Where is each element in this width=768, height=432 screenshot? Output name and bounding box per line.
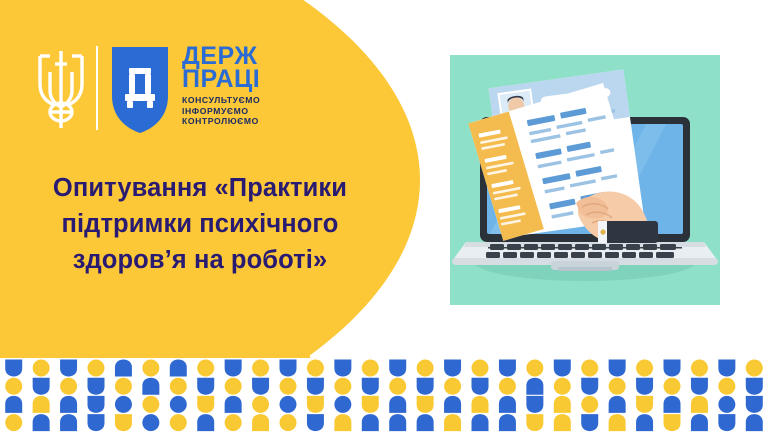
pattern-cell: [362, 378, 379, 395]
pattern-cell: [88, 360, 105, 377]
pattern-cell: [444, 378, 461, 395]
pattern-cell: [554, 396, 571, 413]
pattern-cell: [472, 414, 489, 431]
pattern-cell: [334, 396, 351, 413]
pattern-cell: [307, 360, 324, 377]
pattern-cell: [115, 378, 132, 395]
pattern-cell: [33, 414, 50, 431]
logo-tagline-line-1: КОНСУЛЬТУЄМО: [182, 95, 260, 106]
pattern-cell: [554, 414, 571, 431]
pattern-cell: [225, 396, 242, 413]
pattern-cell: [526, 396, 543, 413]
pattern-cell: [33, 378, 50, 395]
pattern-cell: [197, 396, 214, 413]
poster-canvas: ДЕРЖ ПРАЦІ КОНСУЛЬТУЄМО ІНФОРМУЄМО КОНТР…: [0, 0, 768, 432]
pattern-cell: [746, 360, 763, 377]
pattern-cell: [691, 378, 708, 395]
pattern-cell: [142, 396, 159, 413]
pattern-cell: [170, 378, 187, 395]
pattern-cell: [499, 414, 516, 431]
pattern-cell: [280, 396, 297, 413]
pattern-cell: [664, 414, 681, 431]
pattern-cell: [280, 414, 297, 431]
pattern-cell: [718, 414, 735, 431]
logo-wordmark: ДЕРЖ ПРАЦІ КОНСУЛЬТУЄМО ІНФОРМУЄМО КОНТР…: [182, 44, 260, 127]
pattern-svg: [0, 358, 768, 432]
pattern-cell: [60, 414, 77, 431]
pattern-cell: [88, 396, 105, 413]
pattern-cell: [88, 378, 105, 395]
pattern-cell: [417, 396, 434, 413]
pattern-cell: [307, 378, 324, 395]
pattern-cell: [691, 360, 708, 377]
pattern-cell: [664, 396, 681, 413]
pattern-cell: [472, 360, 489, 377]
pattern-cell: [5, 396, 22, 413]
page-title-line-3: здоров’я на роботі»: [0, 242, 400, 278]
pattern-cell: [609, 378, 626, 395]
pattern-cell: [389, 360, 406, 377]
pattern-cell: [581, 396, 598, 413]
pattern-cell: [746, 414, 763, 431]
pattern-cell: [444, 360, 461, 377]
pattern-cell: [636, 414, 653, 431]
pattern-cell: [746, 396, 763, 413]
pattern-cell: [334, 360, 351, 377]
pattern-cell: [636, 396, 653, 413]
derzhpratsi-logo: ДЕРЖ ПРАЦІ КОНСУЛЬТУЄМО ІНФОРМУЄМО КОНТР…: [34, 44, 260, 136]
pattern-cell: [88, 414, 105, 431]
pattern-cell: [5, 378, 22, 395]
shirt-cuff: [598, 221, 658, 243]
pattern-cell: [444, 396, 461, 413]
pattern-cell: [252, 378, 269, 395]
pattern-cell: [334, 378, 351, 395]
pattern-cell: [115, 414, 132, 431]
pattern-cell: [362, 360, 379, 377]
ukraine-trident-emblem: [34, 44, 88, 136]
pattern-cell: [115, 360, 132, 377]
pattern-cell: [307, 414, 324, 431]
pattern-cell: [389, 396, 406, 413]
pattern-cell: [60, 396, 77, 413]
pattern-cell: [33, 360, 50, 377]
pattern-cell: [334, 414, 351, 431]
yellow-bottom-strip: [0, 340, 310, 358]
pattern-cell: [499, 360, 516, 377]
pattern-cell: [746, 378, 763, 395]
pattern-cell: [417, 360, 434, 377]
pattern-cell: [362, 414, 379, 431]
pattern-cell: [499, 378, 516, 395]
pattern-cell: [170, 396, 187, 413]
pattern-cell: [691, 396, 708, 413]
pattern-cell: [499, 396, 516, 413]
pattern-cell: [280, 360, 297, 377]
pattern-cell: [417, 378, 434, 395]
pattern-cell: [142, 360, 159, 377]
pattern-cell: [197, 414, 214, 431]
pattern-cell: [664, 378, 681, 395]
illustration-laptop-resume: [450, 55, 720, 305]
pattern-cell: [472, 396, 489, 413]
pattern-cell: [142, 414, 159, 431]
pattern-cell: [197, 360, 214, 377]
illustration-svg: [450, 55, 720, 305]
pattern-cell: [609, 396, 626, 413]
pattern-cell: [718, 360, 735, 377]
pattern-cell: [718, 378, 735, 395]
decorative-pattern-band: [0, 358, 768, 432]
pattern-cell: [444, 414, 461, 431]
pattern-cell: [225, 378, 242, 395]
pattern-cell: [581, 414, 598, 431]
pattern-cell: [225, 414, 242, 431]
pattern-cell: [252, 360, 269, 377]
pattern-cell: [307, 396, 324, 413]
pattern-cell: [225, 360, 242, 377]
pattern-cell: [5, 360, 22, 377]
pattern-cell: [609, 414, 626, 431]
pattern-cell: [170, 414, 187, 431]
pattern-cell: [252, 396, 269, 413]
pattern-cell: [526, 414, 543, 431]
pattern-cell: [170, 360, 187, 377]
derzhpratsi-shield-icon: [109, 44, 171, 136]
pattern-cell: [115, 396, 132, 413]
pattern-cell: [389, 414, 406, 431]
pattern-cell: [554, 378, 571, 395]
pattern-cell: [664, 360, 681, 377]
pattern-cell: [609, 360, 626, 377]
pattern-cell: [280, 378, 297, 395]
pattern-cell: [636, 360, 653, 377]
pattern-cell: [60, 378, 77, 395]
page-title-line-2: підтримки психічного: [0, 206, 400, 242]
pattern-cell: [417, 414, 434, 431]
pattern-cell: [526, 378, 543, 395]
pattern-cell: [60, 360, 77, 377]
pattern-cell: [691, 414, 708, 431]
pattern-cell: [554, 360, 571, 377]
pattern-cell: [472, 378, 489, 395]
page-title-line-1: Опитування «Практики: [0, 170, 400, 206]
pattern-cell: [581, 360, 598, 377]
logo-tagline-line-2: ІНФОРМУЄМО: [182, 106, 260, 117]
logo-word-pratsi: ПРАЦІ: [182, 68, 260, 91]
pattern-cell: [197, 378, 214, 395]
pattern-cell: [636, 378, 653, 395]
pattern-cell: [5, 414, 22, 431]
pattern-cell: [718, 396, 735, 413]
logo-divider: [96, 46, 98, 130]
logo-tagline-line-3: КОНТРОЛЮЄМО: [182, 116, 260, 127]
pattern-cell: [526, 360, 543, 377]
page-title: Опитування «Практики підтримки психічног…: [0, 170, 400, 278]
pattern-cell: [362, 396, 379, 413]
pattern-cell: [142, 378, 159, 395]
pattern-cell: [389, 378, 406, 395]
pattern-cell: [581, 378, 598, 395]
pattern-cell: [33, 396, 50, 413]
pattern-cell: [252, 414, 269, 431]
